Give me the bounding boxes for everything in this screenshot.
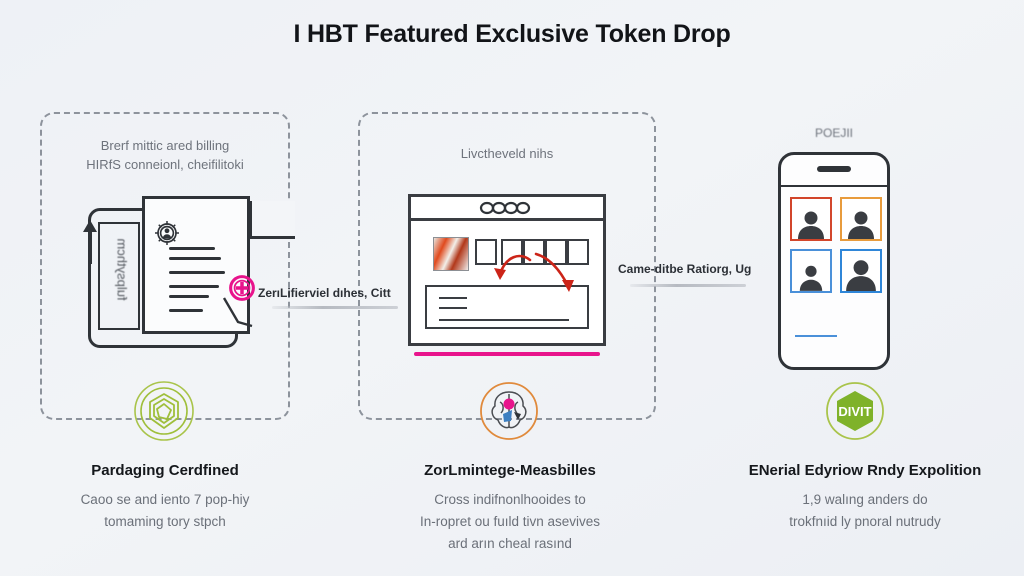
caption-center-title: ZorLmintege-Measbilles (370, 462, 650, 479)
phone-speaker (817, 166, 851, 172)
document-vertical-label: fulpsythcm (115, 224, 130, 316)
caption-center: ZorLmintege-Measbilles Cross indifnonlho… (370, 462, 650, 555)
connector-left-to-center-label: ZerıLifierviel dıhes, Citt (258, 286, 391, 300)
caption-left-body: Caoo se and iento 7 pop-hiy tomaming tor… (25, 489, 305, 533)
person-icon (797, 261, 825, 291)
connector-left-to-center-line (272, 306, 398, 309)
person-icon (845, 257, 877, 291)
avatar[interactable] (840, 249, 882, 293)
document-sidebar-box: fulpsythcm (98, 222, 140, 330)
phone-screen-divider (781, 185, 887, 187)
document-text-line (169, 257, 221, 260)
document-text-line (169, 271, 225, 274)
panel-center-heading: Livctheveld nihs (358, 144, 656, 163)
phone-device-label: POEJII (778, 126, 890, 140)
caption-center-body: Cross indifnonlhooides to In-ropret ou f… (370, 489, 650, 555)
caption-left: Pardaging Cerdfined Caoo se and iento 7 … (25, 462, 305, 533)
caption-right-title: ENerial Edyriow Rndy Expolition (715, 462, 1015, 479)
avatar[interactable] (840, 197, 882, 241)
document-pointer-line (220, 296, 254, 336)
badge-shield (133, 380, 195, 442)
badge-hexagon: DIVIT (824, 380, 886, 442)
caption-left-title: Pardaging Cerdfined (25, 462, 305, 479)
page-title: I HBT Featured Exclusive Token Drop (0, 20, 1024, 49)
infographic-canvas: I HBT Featured Exclusive Token Drop Brer… (0, 0, 1024, 576)
browser-accent-underline (414, 352, 600, 356)
person-icon (796, 207, 826, 239)
gear-person-icon (152, 218, 182, 248)
document-text-line (169, 309, 203, 312)
panel-left-heading: Brerf mittic ared billing HIRfS conneion… (40, 136, 290, 174)
red-curved-arrow-icon (408, 194, 606, 346)
connector-center-to-right-label: Came-ditbe Ratiorg, Ug (618, 262, 751, 276)
avatar[interactable] (790, 197, 832, 241)
document-text-line (169, 285, 219, 288)
person-icon (846, 207, 876, 239)
connector-center-to-right-line (630, 284, 746, 287)
badge-brain (478, 380, 540, 442)
caption-right: ENerial Edyriow Rndy Expolition 1,9 walı… (715, 462, 1015, 533)
avatar-grid (790, 197, 882, 293)
document-text-line (169, 295, 209, 298)
badge-hexagon-text: DIVIT (838, 404, 871, 419)
document-corner-notch (249, 201, 295, 239)
avatar[interactable] (790, 249, 832, 293)
phone-mockup (778, 152, 890, 370)
document-illustration: fulpsythcm (80, 196, 260, 361)
caption-right-body: 1,9 walıng anders do trokfnıid ly pnoral… (715, 489, 1015, 533)
phone-footer-line (795, 335, 837, 337)
